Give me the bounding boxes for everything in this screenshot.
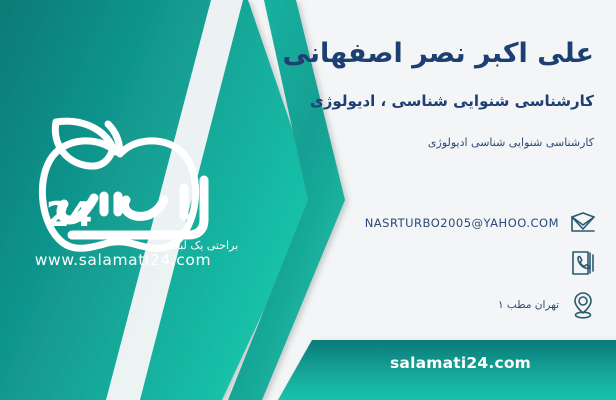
svg-text:24: 24 xyxy=(46,195,92,235)
contact-row-address[interactable]: تهران مطب ۱ xyxy=(498,290,598,320)
phone-book-icon xyxy=(568,248,598,278)
footer-website-url[interactable]: salamati24.com xyxy=(390,354,531,372)
logo-url-text: www.salamati24.com xyxy=(8,251,238,269)
brand-logo: 24 براحتی یک لبخند www.salamati24.com xyxy=(8,108,238,268)
business-card: 24 براحتی یک لبخند www.salamati24.com عل… xyxy=(0,0,616,400)
person-name: علی اکبر نصر اصفهانی xyxy=(283,38,595,69)
contact-row-phone[interactable] xyxy=(559,248,598,278)
apple-outline-icon: 24 براحتی یک لبخند xyxy=(8,108,238,253)
envelope-icon xyxy=(568,208,598,238)
address-text: تهران مطب ۱ xyxy=(498,299,559,311)
person-subtitle: کارشناسی شنوایی شناسی ادیولوژی xyxy=(428,136,594,149)
brand-number-24: 24 xyxy=(46,195,92,235)
location-pin-icon xyxy=(568,290,598,320)
email-address-text: NASRTURBO2005@YAHOO.COM xyxy=(365,216,559,230)
person-title: کارشناسی شنوایی شناسی ، ادیولوژی xyxy=(310,92,594,110)
contact-row-email[interactable]: NASRTURBO2005@YAHOO.COM xyxy=(365,208,598,238)
